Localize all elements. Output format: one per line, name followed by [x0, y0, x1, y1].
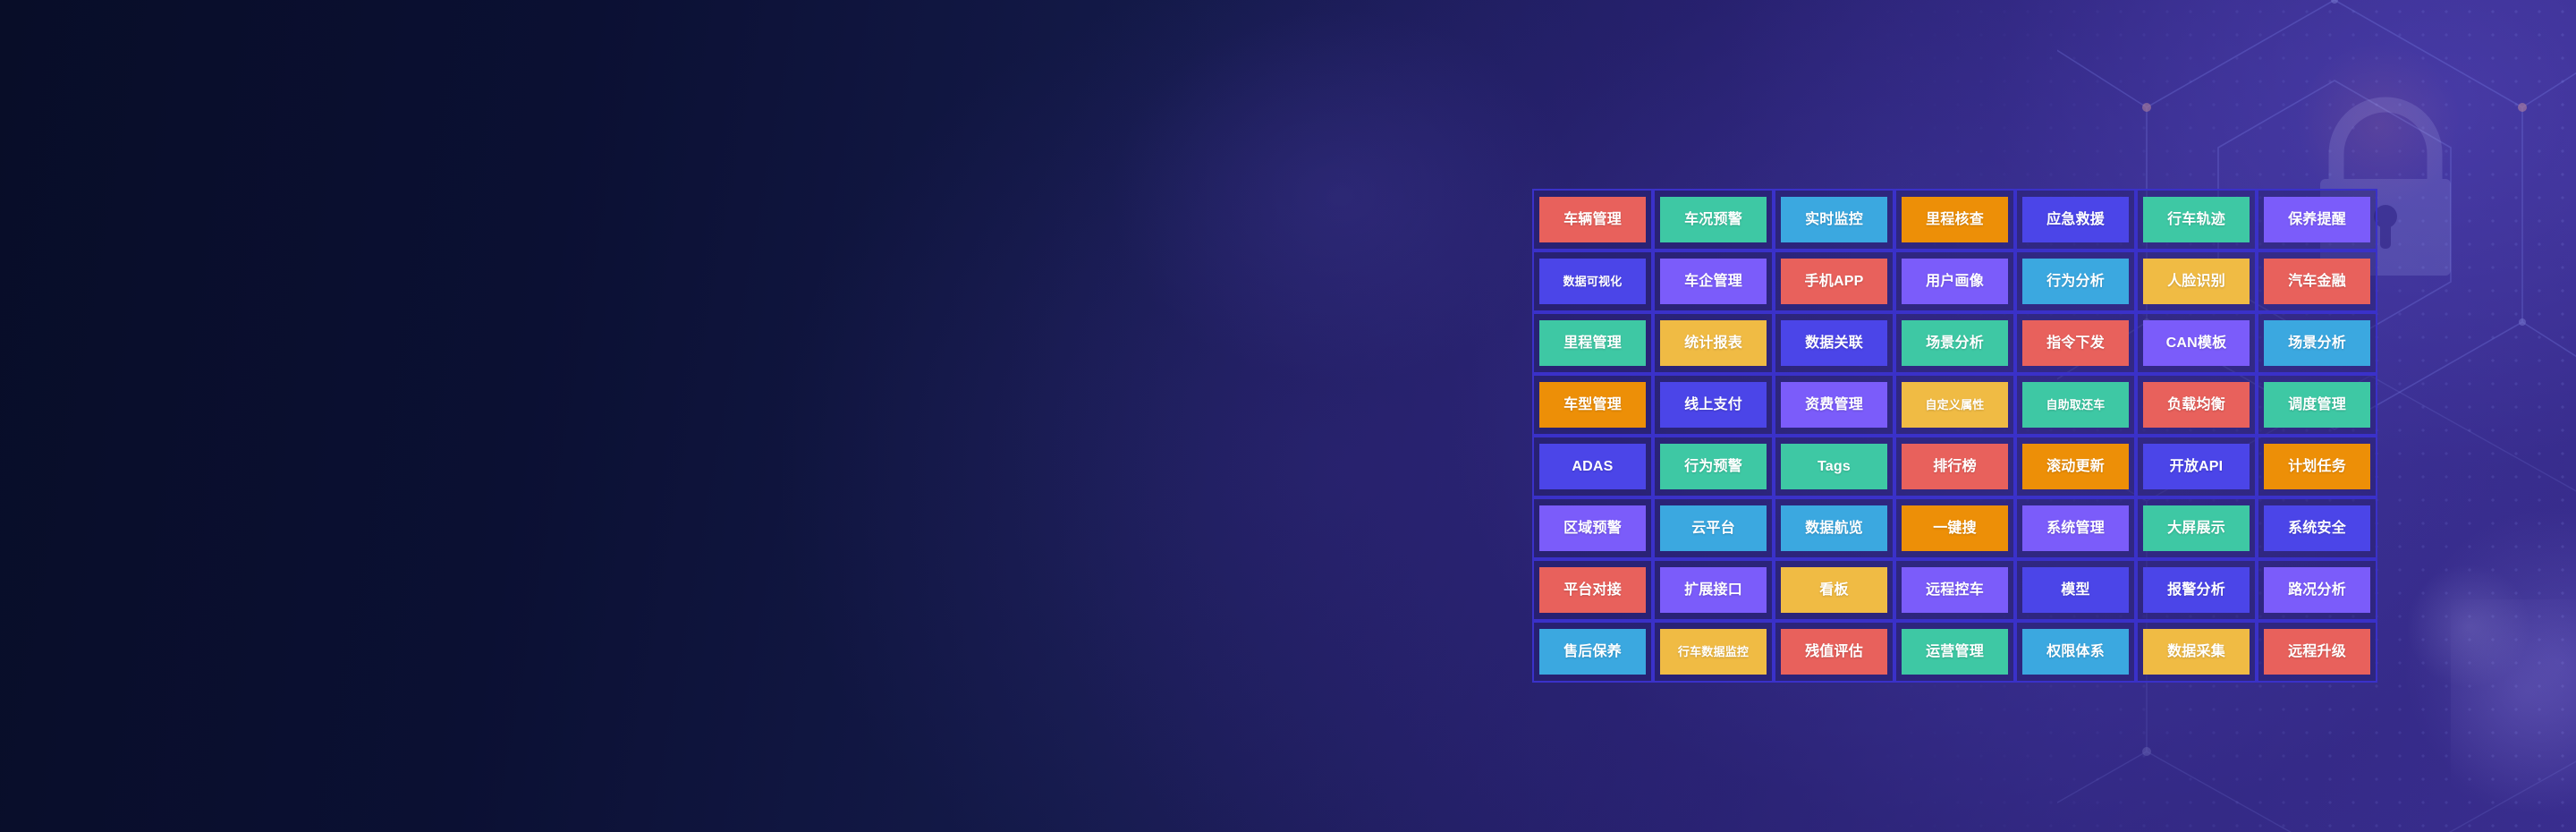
background-glow-center	[1109, 9, 1574, 385]
background-glow-crescent	[2451, 599, 2576, 832]
capability-tile[interactable]: CAN模板	[2136, 312, 2257, 374]
capability-tile-label: 数据采集	[2143, 629, 2250, 675]
capability-tile-label: 排行榜	[1902, 444, 2008, 489]
capability-tile-label: CAN模板	[2143, 320, 2250, 366]
capability-tile[interactable]: 计划任务	[2257, 436, 2377, 497]
page-background: 车辆管理车况预警实时监控里程核查应急救援行车轨迹保养提醒数据可视化车企管理手机A…	[0, 0, 2576, 832]
capability-tile[interactable]: 系统管理	[2015, 497, 2136, 559]
capability-tile-label: 车企管理	[1660, 259, 1767, 304]
capability-tile-label: 系统安全	[2264, 505, 2370, 551]
capability-tile[interactable]: 自助取还车	[2015, 374, 2136, 436]
capability-tile[interactable]: 场景分析	[2257, 312, 2377, 374]
capability-tile-label: 平台对接	[1539, 567, 1646, 613]
capability-tile[interactable]: 远程升级	[2257, 621, 2377, 683]
capability-tile[interactable]: 行车轨迹	[2136, 189, 2257, 250]
capability-tile[interactable]: 资费管理	[1774, 374, 1894, 436]
capability-tile-label: 线上支付	[1660, 382, 1767, 428]
capability-tile[interactable]: 自定义属性	[1894, 374, 2015, 436]
capability-tile[interactable]: 调度管理	[2257, 374, 2377, 436]
capability-tile-label: 看板	[1781, 567, 1887, 613]
capability-tile[interactable]: 汽车金融	[2257, 250, 2377, 312]
capability-tile-label: 大屏展示	[2143, 505, 2250, 551]
capability-tile[interactable]: 应急救援	[2015, 189, 2136, 250]
capability-tile-label: 路况分析	[2264, 567, 2370, 613]
capability-tile[interactable]: Tags	[1774, 436, 1894, 497]
capability-tile[interactable]: 负载均衡	[2136, 374, 2257, 436]
capability-tile[interactable]: 售后保养	[1532, 621, 1653, 683]
capability-tile-label: Tags	[1781, 444, 1887, 489]
capability-tile-label: 计划任务	[2264, 444, 2370, 489]
capability-tile-label: 报警分析	[2143, 567, 2250, 613]
capability-tile[interactable]: 区域预警	[1532, 497, 1653, 559]
capability-tile-label: ADAS	[1539, 444, 1646, 489]
capability-tile[interactable]: 人脸识别	[2136, 250, 2257, 312]
capability-tile-label: 用户画像	[1902, 259, 2008, 304]
capability-tile[interactable]: 模型	[2015, 559, 2136, 621]
capability-tile[interactable]: 数据航览	[1774, 497, 1894, 559]
capability-tile-label: 汽车金融	[2264, 259, 2370, 304]
capability-tile[interactable]: ADAS	[1532, 436, 1653, 497]
capability-tile-label: 一键搜	[1902, 505, 2008, 551]
capability-tile-label: 售后保养	[1539, 629, 1646, 675]
capability-tile[interactable]: 一键搜	[1894, 497, 2015, 559]
capability-tile[interactable]: 扩展接口	[1653, 559, 1774, 621]
capability-tile-label: 里程核查	[1902, 197, 2008, 242]
capability-tile[interactable]: 统计报表	[1653, 312, 1774, 374]
capability-tile-label: 远程升级	[2264, 629, 2370, 675]
capability-tile-label: 数据关联	[1781, 320, 1887, 366]
capability-tile-label: 车况预警	[1660, 197, 1767, 242]
capability-tile-label: 自定义属性	[1902, 382, 2008, 428]
capability-tile-label: 残值评估	[1781, 629, 1887, 675]
capability-tile[interactable]: 残值评估	[1774, 621, 1894, 683]
capability-tile-label: 滚动更新	[2022, 444, 2129, 489]
capability-tile-label: 行车轨迹	[2143, 197, 2250, 242]
capability-tile-label: 保养提醒	[2264, 197, 2370, 242]
capability-tile[interactable]: 车型管理	[1532, 374, 1653, 436]
capability-tile[interactable]: 车企管理	[1653, 250, 1774, 312]
background-glow-orb	[2406, 564, 2531, 689]
capability-tile[interactable]: 实时监控	[1774, 189, 1894, 250]
capability-tile[interactable]: 车辆管理	[1532, 189, 1653, 250]
capability-tile-label: 权限体系	[2022, 629, 2129, 675]
capability-tile-label: 行为分析	[2022, 259, 2129, 304]
capability-tile-label: 系统管理	[2022, 505, 2129, 551]
capability-tile[interactable]: 滚动更新	[2015, 436, 2136, 497]
capability-tile[interactable]: 车况预警	[1653, 189, 1774, 250]
capability-tile[interactable]: 行为预警	[1653, 436, 1774, 497]
capability-tile-label: 云平台	[1660, 505, 1767, 551]
capability-tile[interactable]: 数据关联	[1774, 312, 1894, 374]
capability-tile-label: 自助取还车	[2022, 382, 2129, 428]
capability-tile[interactable]: 大屏展示	[2136, 497, 2257, 559]
capability-tile[interactable]: 远程控车	[1894, 559, 2015, 621]
capability-tile[interactable]: 权限体系	[2015, 621, 2136, 683]
capability-tile[interactable]: 场景分析	[1894, 312, 2015, 374]
capability-tile[interactable]: 里程核查	[1894, 189, 2015, 250]
capability-tile-label: 应急救援	[2022, 197, 2129, 242]
capability-tile-label: 指令下发	[2022, 320, 2129, 366]
capability-tile[interactable]: 行车数据监控	[1653, 621, 1774, 683]
background-glow-lower-right	[2397, 501, 2576, 823]
capability-tile-label: 里程管理	[1539, 320, 1646, 366]
capability-tile-label: 行为预警	[1660, 444, 1767, 489]
capability-tile-label: 远程控车	[1902, 567, 2008, 613]
capability-tile-label: 区域预警	[1539, 505, 1646, 551]
capability-tile[interactable]: 看板	[1774, 559, 1894, 621]
capability-tile[interactable]: 用户画像	[1894, 250, 2015, 312]
capability-tile[interactable]: 平台对接	[1532, 559, 1653, 621]
capability-tile[interactable]: 行为分析	[2015, 250, 2136, 312]
capability-tile[interactable]: 路况分析	[2257, 559, 2377, 621]
capability-tile-label: 扩展接口	[1660, 567, 1767, 613]
capability-tile[interactable]: 报警分析	[2136, 559, 2257, 621]
capability-tile[interactable]: 手机APP	[1774, 250, 1894, 312]
capability-tile[interactable]: 排行榜	[1894, 436, 2015, 497]
capability-tile[interactable]: 里程管理	[1532, 312, 1653, 374]
capability-tile-label: 场景分析	[2264, 320, 2370, 366]
capability-tile-label: 统计报表	[1660, 320, 1767, 366]
capability-tile-label: 车型管理	[1539, 382, 1646, 428]
capability-tile-label: 实时监控	[1781, 197, 1887, 242]
capability-tile-label: 行车数据监控	[1660, 629, 1767, 675]
capability-tile[interactable]: 数据可视化	[1532, 250, 1653, 312]
background-glow-warm	[2290, 36, 2469, 215]
capability-tile[interactable]: 指令下发	[2015, 312, 2136, 374]
capability-tile[interactable]: 线上支付	[1653, 374, 1774, 436]
capability-tile[interactable]: 云平台	[1653, 497, 1774, 559]
capability-tile[interactable]: 数据采集	[2136, 621, 2257, 683]
capability-tile[interactable]: 开放API	[2136, 436, 2257, 497]
capability-tile-label: 数据可视化	[1539, 259, 1646, 304]
capability-tile-label: 模型	[2022, 567, 2129, 613]
capability-tile-label: 车辆管理	[1539, 197, 1646, 242]
capability-grid: 车辆管理车况预警实时监控里程核查应急救援行车轨迹保养提醒数据可视化车企管理手机A…	[1532, 189, 2377, 683]
capability-tile-label: 运营管理	[1902, 629, 2008, 675]
capability-tile-label: 场景分析	[1902, 320, 2008, 366]
capability-tile-label: 开放API	[2143, 444, 2250, 489]
capability-tile-label: 手机APP	[1781, 259, 1887, 304]
capability-tile[interactable]: 系统安全	[2257, 497, 2377, 559]
capability-tile[interactable]: 运营管理	[1894, 621, 2015, 683]
capability-tile-label: 调度管理	[2264, 382, 2370, 428]
capability-tile-label: 人脸识别	[2143, 259, 2250, 304]
capability-tile[interactable]: 保养提醒	[2257, 189, 2377, 250]
capability-tile-label: 数据航览	[1781, 505, 1887, 551]
capability-tile-label: 资费管理	[1781, 382, 1887, 428]
capability-tile-label: 负载均衡	[2143, 382, 2250, 428]
